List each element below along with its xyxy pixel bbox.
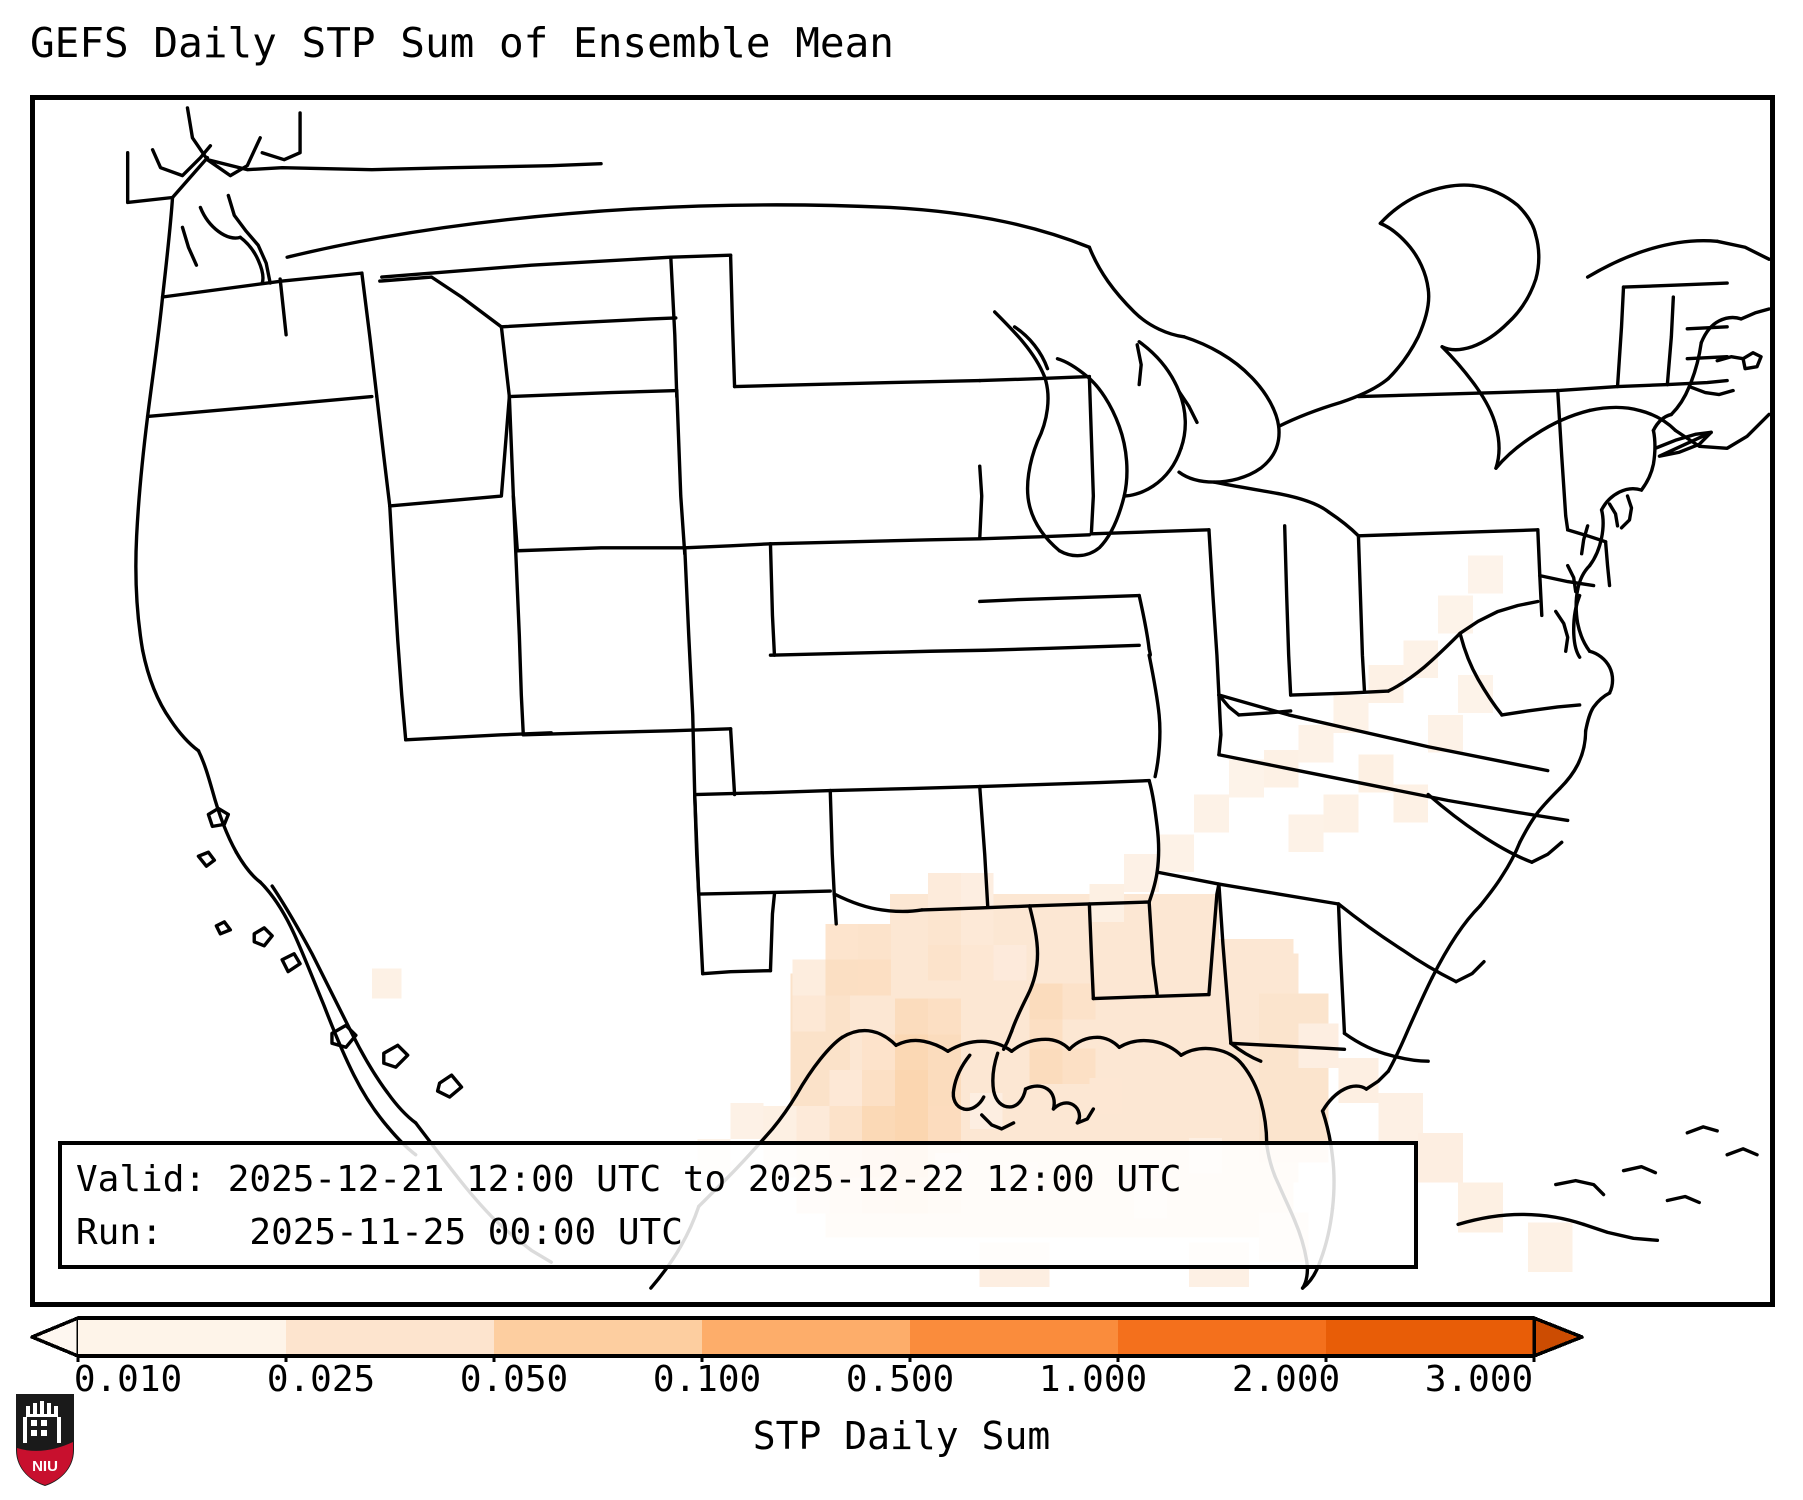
- conus-map: [33, 98, 1772, 1304]
- colorbar-extend-max: [1534, 1318, 1582, 1356]
- cb-tick-1: 0.025: [267, 1358, 375, 1402]
- cb-tick-7: 3.000: [1425, 1358, 1533, 1402]
- cb-tick-5: 1.000: [1039, 1358, 1147, 1402]
- run-time-line: Run: 2025-11-25 00:00 UTC: [76, 1206, 1400, 1259]
- cb-tick-4: 0.500: [846, 1358, 954, 1402]
- page-title: GEFS Daily STP Sum of Ensemble Mean: [30, 18, 894, 68]
- cb-tick-6: 2.000: [1232, 1358, 1340, 1402]
- cb-tick-2: 0.050: [460, 1358, 568, 1402]
- forecast-info-box: Valid: 2025-12-21 12:00 UTC to 2025-12-2…: [58, 1141, 1418, 1269]
- colorbar-svg: [0, 1312, 1803, 1362]
- niu-shield-icon: NIU: [14, 1392, 76, 1488]
- map-panel: [30, 95, 1775, 1307]
- colorbar: [0, 1312, 1803, 1362]
- colorbar-extend-min: [32, 1318, 78, 1356]
- colorbar-bands: [78, 1318, 1534, 1356]
- colorbar-axis-label: STP Daily Sum: [0, 1413, 1803, 1459]
- cb-tick-3: 0.100: [653, 1358, 761, 1402]
- cb-tick-0: 0.010: [74, 1358, 182, 1402]
- niu-logo: NIU: [14, 1392, 76, 1488]
- valid-time-line: Valid: 2025-12-21 12:00 UTC to 2025-12-2…: [76, 1153, 1400, 1206]
- colorbar-tick-labels: 0.010 0.025 0.050 0.100 0.500 1.000 2.00…: [0, 1358, 1803, 1408]
- niu-wordmark: NIU: [32, 1458, 58, 1475]
